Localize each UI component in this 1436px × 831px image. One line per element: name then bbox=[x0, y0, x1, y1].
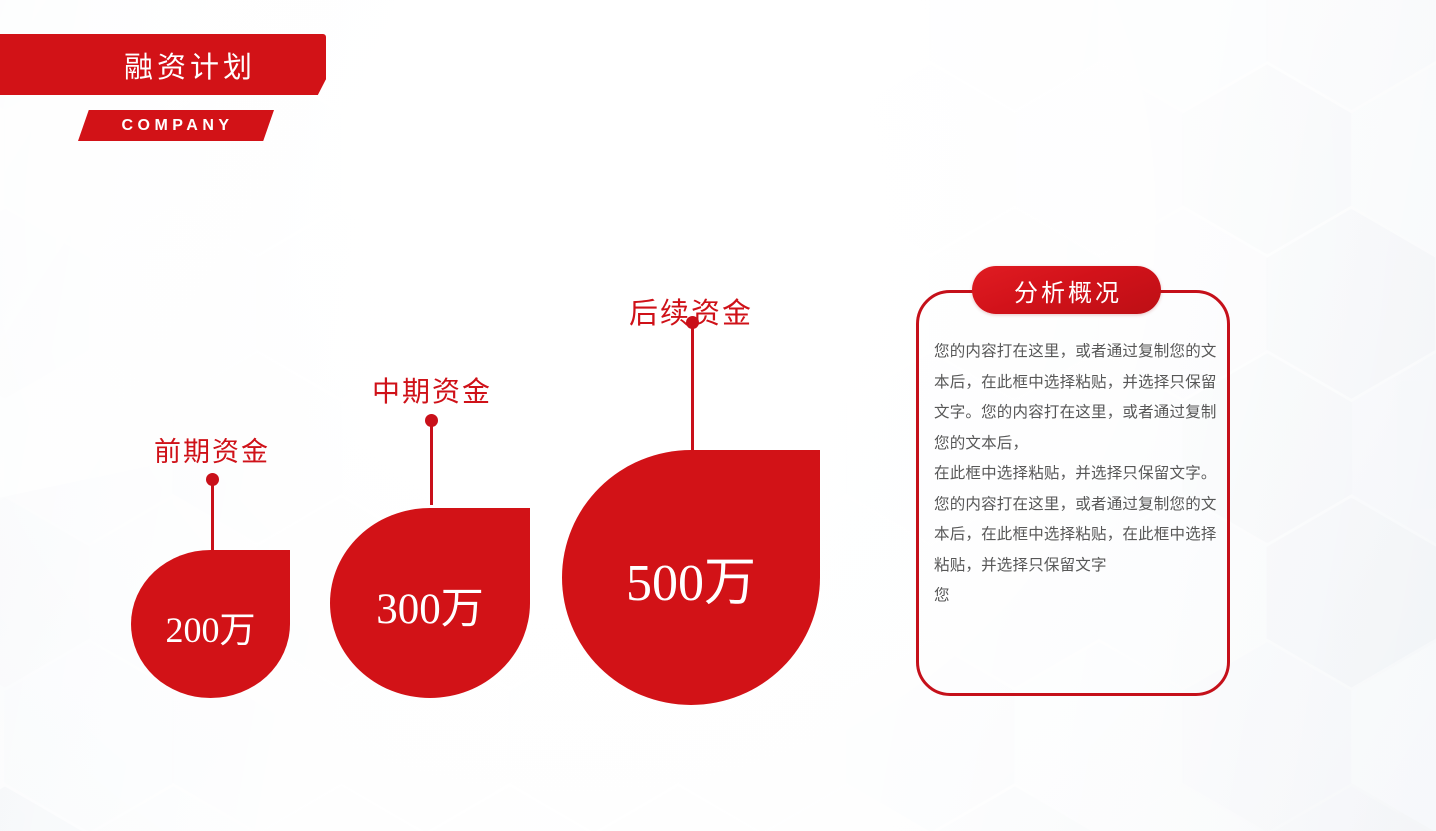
analysis-paragraph: 您的内容打在这里，或者通过复制您的文本后，在此框中选择粘贴，并选择只保留文字。您… bbox=[934, 336, 1222, 458]
stage-group-3: 后续资金 500万 bbox=[562, 290, 820, 705]
page-title: 融资计划 bbox=[124, 44, 256, 86]
company-label: COMPANY bbox=[78, 110, 274, 141]
stage-stem-2 bbox=[430, 420, 433, 505]
title-banner: 融资计划 bbox=[0, 34, 326, 95]
stage-bubble-1[interactable]: 200万 bbox=[131, 550, 290, 698]
analysis-body-text: 您的内容打在这里，或者通过复制您的文本后，在此框中选择粘贴，并选择只保留文字。您… bbox=[934, 336, 1222, 611]
stage-label-1: 前期资金 bbox=[128, 430, 296, 469]
stage-bubble-3[interactable]: 500万 bbox=[562, 450, 820, 705]
analysis-badge-label: 分析概况 bbox=[1011, 273, 1122, 308]
slide-canvas: 融资计划 COMPANY 前期资金 200万 中期资金 300万 后续资金 50… bbox=[0, 0, 1436, 831]
company-banner: COMPANY bbox=[78, 110, 274, 141]
stage-bubble-2[interactable]: 300万 bbox=[330, 508, 530, 698]
analysis-paragraph: 在此框中选择粘贴，并选择只保留文字。您的内容打在这里，或者通过复制您的文本后，在… bbox=[934, 458, 1222, 580]
analysis-paragraph: 您 bbox=[934, 580, 1222, 611]
analysis-badge[interactable]: 分析概况 bbox=[972, 266, 1161, 314]
stage-group-2: 中期资金 300万 bbox=[330, 370, 530, 698]
stage-group-1: 前期资金 200万 bbox=[131, 430, 293, 698]
stage-stem-3 bbox=[691, 322, 694, 450]
stage-stem-1 bbox=[211, 479, 214, 552]
stage-value-3: 500万 bbox=[626, 558, 756, 610]
stage-value-1: 200万 bbox=[165, 612, 255, 648]
stage-label-2: 中期资金 bbox=[348, 370, 516, 410]
stage-value-2: 300万 bbox=[376, 588, 484, 631]
